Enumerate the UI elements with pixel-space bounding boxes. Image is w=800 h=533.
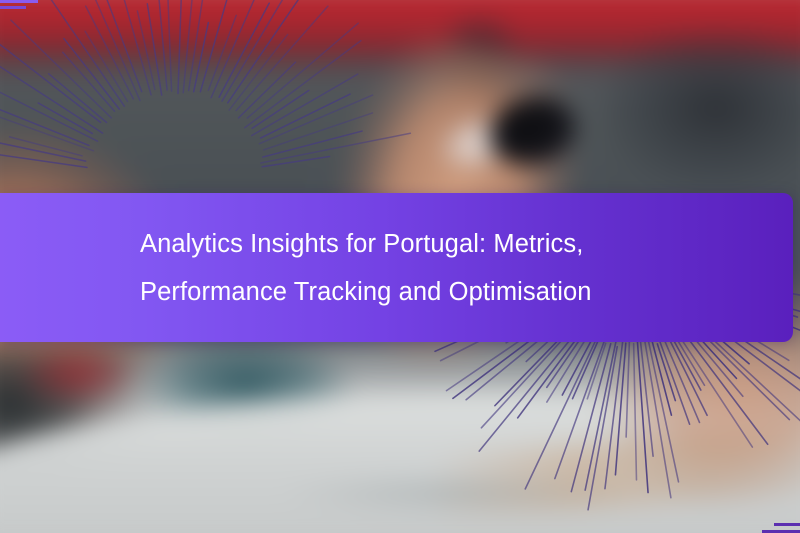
corner-accent-top-left-1 — [0, 0, 38, 3]
photo-dark-top-right — [601, 26, 800, 206]
corner-accent-top-left-2 — [0, 6, 26, 9]
photo-table-shadow — [230, 466, 675, 519]
page-title: Analytics Insights for Portugal: Metrics… — [0, 220, 793, 316]
corner-accent-bottom-right-1 — [774, 523, 800, 526]
title-banner: Analytics Insights for Portugal: Metrics… — [0, 193, 793, 342]
hero-banner-image: Analytics Insights for Portugal: Metrics… — [0, 0, 800, 533]
